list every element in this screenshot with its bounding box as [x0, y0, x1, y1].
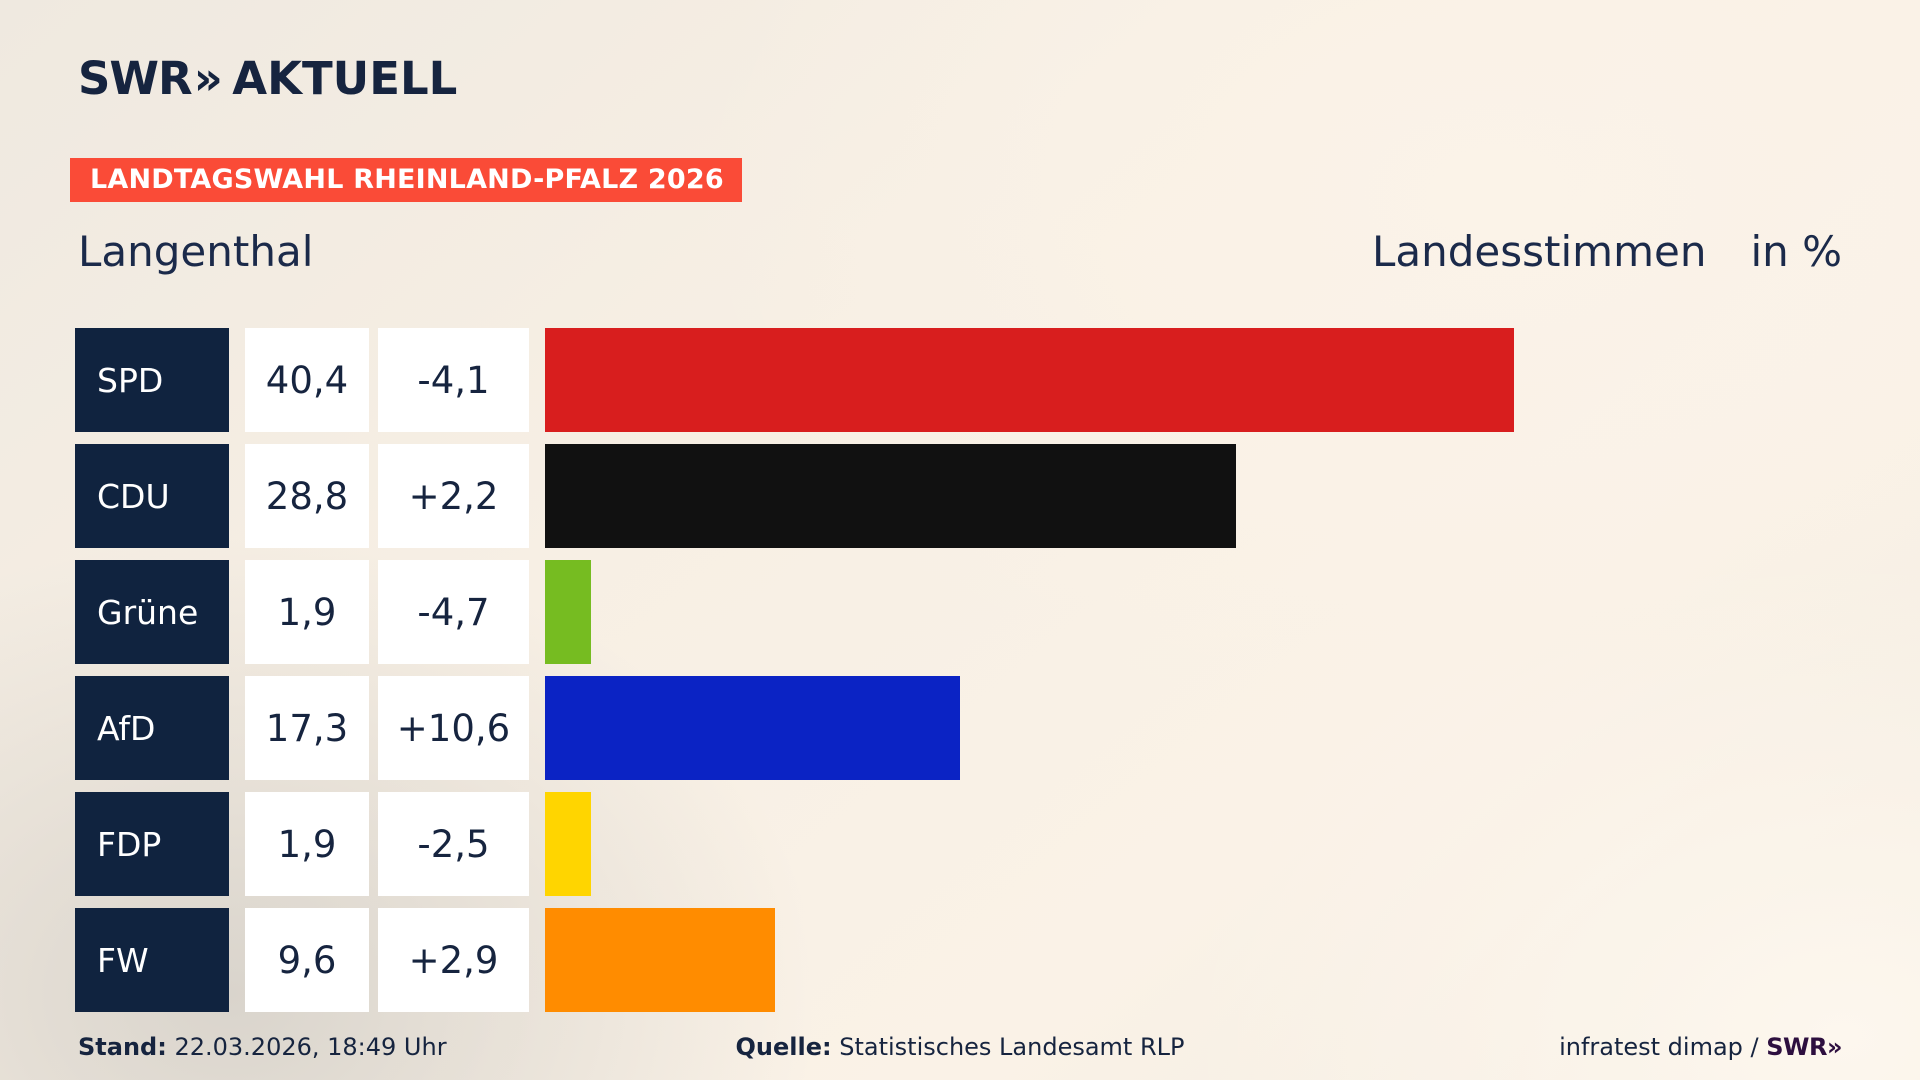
vote-type-label: Landesstimmen: [1372, 227, 1706, 276]
vote-change-cell: -4,7: [378, 560, 529, 664]
swr-wordmark: SWR: [78, 52, 192, 105]
chart-footer: Stand: 22.03.2026, 18:49 Uhr Quelle: Sta…: [78, 1030, 1842, 1064]
vote-share-cell: 40,4: [245, 328, 369, 432]
result-bar: [545, 560, 591, 664]
chart-metric-labels: Landesstimmen in %: [1372, 227, 1842, 276]
swr-aktuell-logo: SWR » AKTUELL: [78, 52, 457, 105]
election-result-graphic: SWR » AKTUELL LANDTAGSWAHL RHEINLAND-PFA…: [0, 0, 1920, 1080]
bar-track: [545, 560, 1920, 664]
result-bar: [545, 792, 591, 896]
vote-share-cell: 9,6: [245, 908, 369, 1012]
stand-info: Stand: 22.03.2026, 18:49 Uhr: [78, 1033, 447, 1061]
double-chevron-icon: »: [194, 56, 223, 101]
bar-track: [545, 792, 1920, 896]
stand-label: Stand:: [78, 1033, 167, 1061]
result-bar: [545, 676, 960, 780]
election-kicker-badge: LANDTAGSWAHL RHEINLAND-PFALZ 2026: [70, 158, 742, 202]
table-row: SPD40,4-4,1: [75, 328, 1920, 444]
table-row: FDP1,9-2,5: [75, 792, 1920, 908]
bar-track: [545, 444, 1920, 548]
source-info: Quelle: Statistisches Landesamt RLP: [736, 1033, 1185, 1061]
party-name-cell: AfD: [75, 676, 229, 780]
vote-change-cell: +2,9: [378, 908, 529, 1012]
bar-track: [545, 328, 1920, 432]
unit-label: in %: [1750, 227, 1842, 276]
quelle-label: Quelle:: [736, 1033, 832, 1061]
table-row: AfD17,3+10,6: [75, 676, 1920, 792]
credit-agency-label: infratest dimap /: [1559, 1033, 1766, 1061]
chart-subheader: Langenthal Landesstimmen in %: [78, 223, 1842, 279]
vote-share-cell: 17,3: [245, 676, 369, 780]
vote-share-cell: 28,8: [245, 444, 369, 548]
credit-info: infratest dimap / SWR»: [1559, 1033, 1842, 1061]
party-name-cell: SPD: [75, 328, 229, 432]
municipality-name: Langenthal: [78, 227, 313, 276]
vote-share-cell: 1,9: [245, 792, 369, 896]
vote-change-cell: +10,6: [378, 676, 529, 780]
bar-track: [545, 908, 1920, 1012]
party-name-cell: CDU: [75, 444, 229, 548]
result-bar: [545, 328, 1514, 432]
vote-change-cell: -4,1: [378, 328, 529, 432]
party-name-cell: FDP: [75, 792, 229, 896]
table-row: FW9,6+2,9: [75, 908, 1920, 1024]
result-bar: [545, 908, 775, 1012]
stand-value: 22.03.2026, 18:49 Uhr: [174, 1033, 446, 1061]
party-name-cell: Grüne: [75, 560, 229, 664]
result-bar: [545, 444, 1236, 548]
results-table: SPD40,4-4,1CDU28,8+2,2Grüne1,9-4,7AfD17,…: [75, 328, 1920, 1024]
party-name-cell: FW: [75, 908, 229, 1012]
quelle-value: Statistisches Landesamt RLP: [839, 1033, 1184, 1061]
swr-credit-mark: SWR»: [1766, 1033, 1842, 1061]
vote-change-cell: +2,2: [378, 444, 529, 548]
bar-track: [545, 676, 1920, 780]
table-row: Grüne1,9-4,7: [75, 560, 1920, 676]
vote-change-cell: -2,5: [378, 792, 529, 896]
aktuell-wordmark: AKTUELL: [232, 52, 457, 105]
table-row: CDU28,8+2,2: [75, 444, 1920, 560]
vote-share-cell: 1,9: [245, 560, 369, 664]
